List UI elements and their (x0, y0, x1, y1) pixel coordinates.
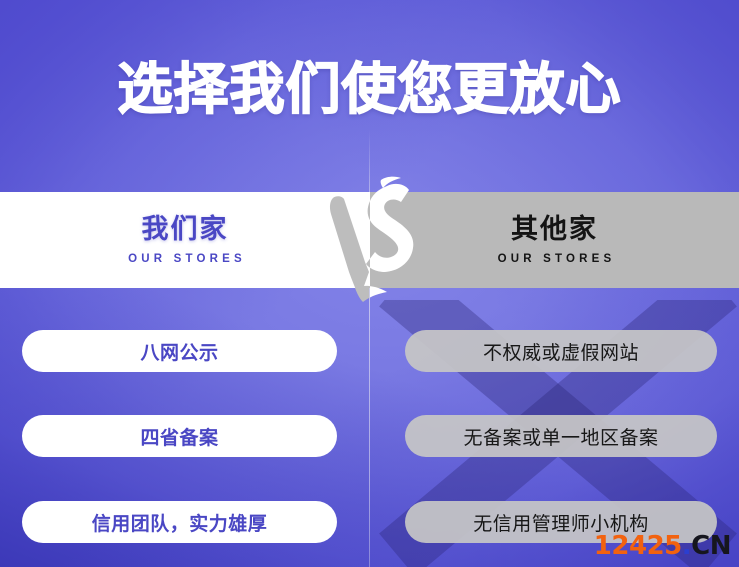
ours-title-en: OUR STORES (124, 251, 246, 267)
page-title: 选择我们使您更放心 (0, 55, 739, 123)
site-watermark: 12425.CN (594, 531, 731, 561)
center-divider (369, 288, 370, 567)
others-pill-2[interactable]: 无备案或单一地区备案 (405, 415, 717, 457)
others-pill-1-label: 不权威或虚假网站 (483, 338, 639, 365)
others-pill-1[interactable]: 不权威或虚假网站 (405, 330, 717, 372)
watermark-number: 12425 (594, 531, 682, 561)
others-title-en: OUR STORES (494, 251, 616, 267)
ours-title-cn: 我们家 (142, 214, 229, 246)
others-title-cn: 其他家 (511, 214, 598, 246)
vs-half-others: 其他家 OUR STORES (370, 192, 739, 288)
comparison-poster: 选择我们使您更放心 我们家 OUR STORES 其他家 OUR STORES (0, 0, 739, 567)
ours-pill-3[interactable]: 信用团队，实力雄厚 (22, 501, 337, 543)
ours-pill-1-label: 八网公示 (140, 338, 218, 365)
vs-half-ours: 我们家 OUR STORES (0, 192, 370, 288)
others-pill-2-label: 无备案或单一地区备案 (463, 423, 658, 450)
ours-pill-2-label: 四省备案 (140, 423, 218, 450)
watermark-tld: CN (691, 531, 731, 561)
ours-pill-3-label: 信用团队，实力雄厚 (92, 509, 268, 536)
ours-pill-2[interactable]: 四省备案 (22, 415, 337, 457)
watermark-dot: . (682, 531, 691, 561)
vs-band: 我们家 OUR STORES 其他家 OUR STORES (0, 192, 739, 288)
ours-pill-1[interactable]: 八网公示 (22, 330, 337, 372)
center-divider-top (369, 130, 370, 192)
